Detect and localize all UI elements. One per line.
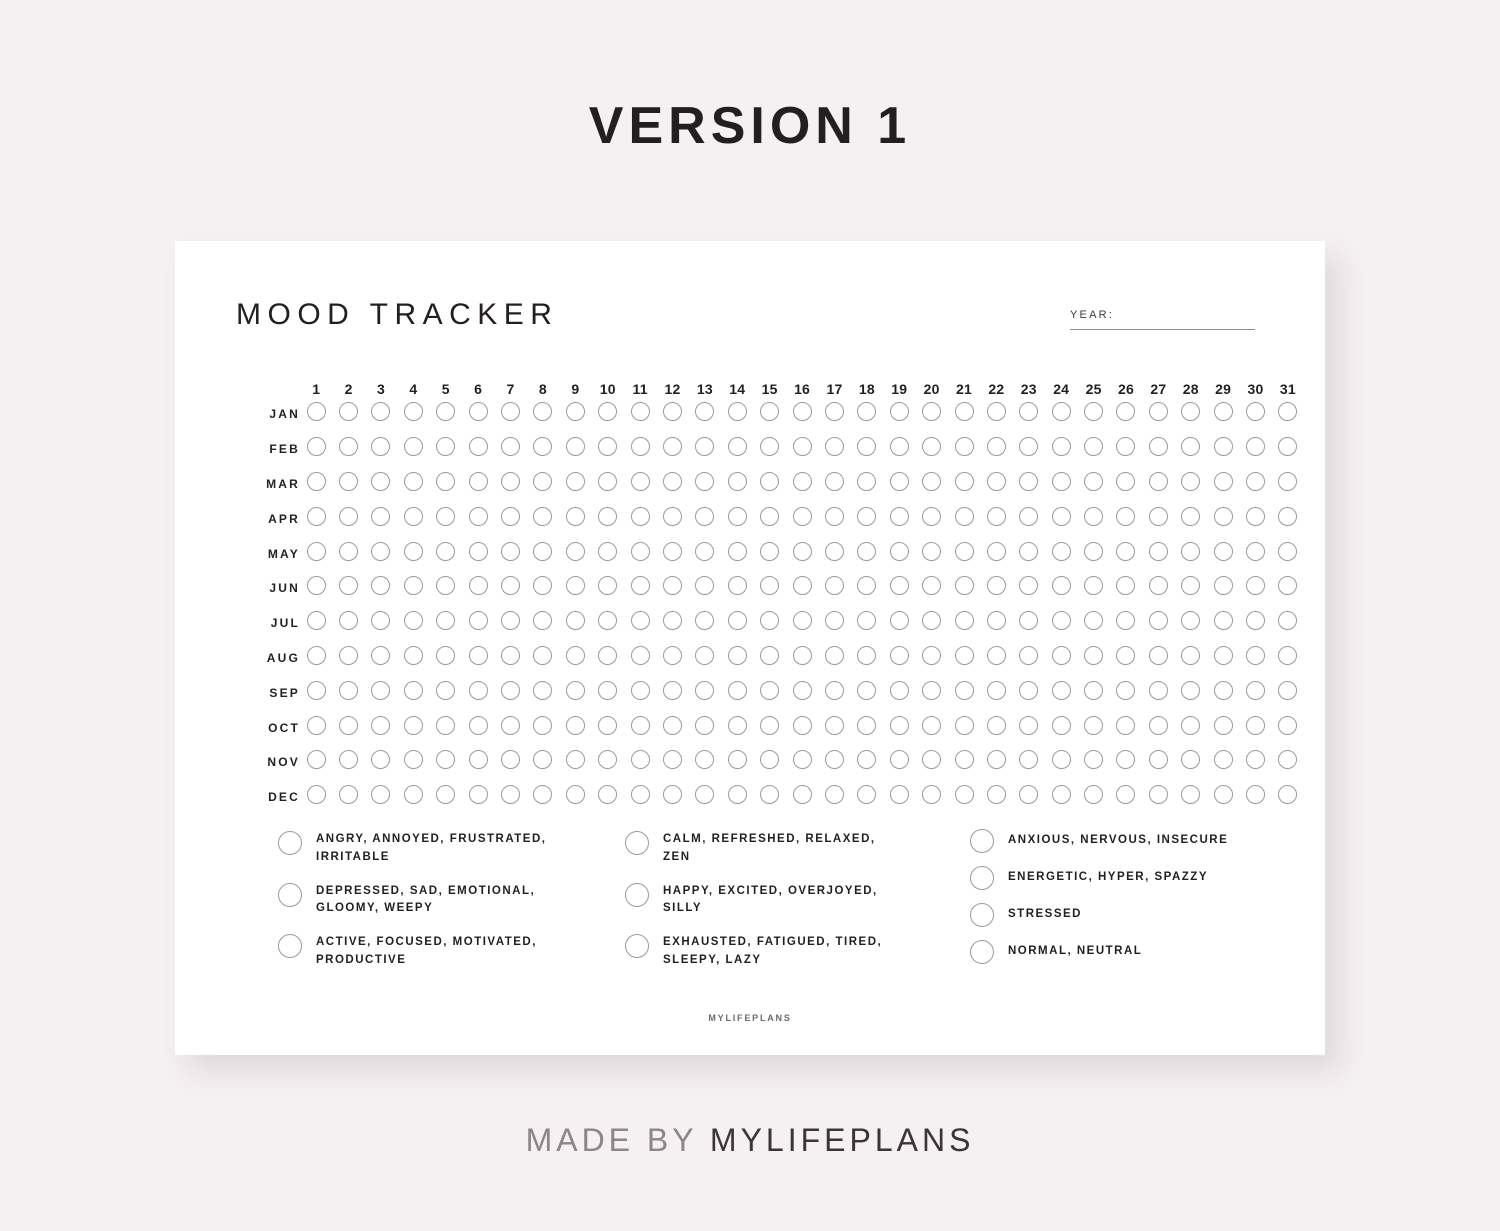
mood-bubble-icon[interactable] (1149, 576, 1168, 595)
mood-cell[interactable] (559, 501, 591, 536)
mood-bubble-icon[interactable] (760, 716, 779, 735)
mood-bubble-icon[interactable] (955, 402, 974, 421)
mood-bubble-icon[interactable] (469, 646, 488, 665)
mood-cell[interactable] (365, 536, 397, 571)
mood-cell[interactable] (1045, 606, 1077, 641)
mood-bubble-icon[interactable] (1149, 716, 1168, 735)
mood-cell[interactable] (818, 536, 850, 571)
mood-bubble-icon[interactable] (760, 542, 779, 561)
legend-bubble-icon[interactable] (278, 934, 302, 958)
mood-cell[interactable] (1272, 501, 1304, 536)
mood-bubble-icon[interactable] (1214, 576, 1233, 595)
mood-bubble-icon[interactable] (987, 681, 1006, 700)
mood-bubble-icon[interactable] (404, 437, 423, 456)
mood-bubble-icon[interactable] (890, 750, 909, 769)
mood-cell[interactable] (624, 432, 656, 467)
mood-bubble-icon[interactable] (371, 681, 390, 700)
mood-cell[interactable] (462, 536, 494, 571)
legend-bubble-icon[interactable] (278, 831, 302, 855)
mood-cell[interactable] (786, 397, 818, 432)
mood-cell[interactable] (1077, 432, 1109, 467)
mood-cell[interactable] (1272, 641, 1304, 676)
mood-cell[interactable] (365, 641, 397, 676)
mood-cell[interactable] (397, 710, 429, 745)
mood-cell[interactable] (332, 745, 364, 780)
mood-cell[interactable] (1077, 675, 1109, 710)
mood-bubble-icon[interactable] (890, 507, 909, 526)
mood-cell[interactable] (1013, 780, 1045, 815)
mood-cell[interactable] (1013, 710, 1045, 745)
mood-cell[interactable] (851, 780, 883, 815)
mood-cell[interactable] (494, 571, 526, 606)
mood-cell[interactable] (689, 432, 721, 467)
mood-bubble-icon[interactable] (1181, 750, 1200, 769)
mood-cell[interactable] (980, 467, 1012, 502)
mood-bubble-icon[interactable] (631, 542, 650, 561)
mood-bubble-icon[interactable] (1246, 472, 1265, 491)
mood-bubble-icon[interactable] (469, 507, 488, 526)
mood-cell[interactable] (397, 780, 429, 815)
mood-bubble-icon[interactable] (1052, 681, 1071, 700)
mood-bubble-icon[interactable] (987, 646, 1006, 665)
mood-bubble-icon[interactable] (1116, 472, 1135, 491)
mood-cell[interactable] (1077, 745, 1109, 780)
mood-cell[interactable] (332, 606, 364, 641)
mood-bubble-icon[interactable] (663, 402, 682, 421)
mood-bubble-icon[interactable] (404, 507, 423, 526)
mood-cell[interactable] (1077, 397, 1109, 432)
mood-cell[interactable] (1142, 571, 1174, 606)
mood-bubble-icon[interactable] (825, 785, 844, 804)
mood-bubble-icon[interactable] (793, 646, 812, 665)
legend-item[interactable]: ANGRY, ANNOYED, FRUSTRATED, IRRITABLE (278, 829, 598, 867)
mood-cell[interactable] (1239, 501, 1271, 536)
mood-bubble-icon[interactable] (339, 611, 358, 630)
mood-cell[interactable] (1142, 675, 1174, 710)
mood-bubble-icon[interactable] (371, 785, 390, 804)
mood-cell[interactable] (1045, 710, 1077, 745)
mood-cell[interactable] (1207, 641, 1239, 676)
mood-cell[interactable] (753, 432, 785, 467)
mood-bubble-icon[interactable] (1019, 507, 1038, 526)
mood-cell[interactable] (721, 780, 753, 815)
mood-cell[interactable] (851, 501, 883, 536)
mood-cell[interactable] (818, 432, 850, 467)
mood-cell[interactable] (980, 501, 1012, 536)
mood-bubble-icon[interactable] (1149, 750, 1168, 769)
mood-bubble-icon[interactable] (987, 716, 1006, 735)
mood-bubble-icon[interactable] (1278, 437, 1297, 456)
mood-cell[interactable] (1110, 397, 1142, 432)
mood-cell[interactable] (300, 571, 332, 606)
mood-cell[interactable] (462, 501, 494, 536)
mood-bubble-icon[interactable] (857, 472, 876, 491)
mood-cell[interactable] (1045, 571, 1077, 606)
mood-cell[interactable] (1045, 432, 1077, 467)
mood-bubble-icon[interactable] (469, 437, 488, 456)
mood-bubble-icon[interactable] (695, 472, 714, 491)
mood-bubble-icon[interactable] (501, 611, 520, 630)
mood-bubble-icon[interactable] (890, 542, 909, 561)
mood-cell[interactable] (1142, 467, 1174, 502)
mood-cell[interactable] (462, 780, 494, 815)
mood-bubble-icon[interactable] (922, 716, 941, 735)
mood-cell[interactable] (494, 710, 526, 745)
mood-cell[interactable] (721, 710, 753, 745)
mood-cell[interactable] (818, 467, 850, 502)
mood-bubble-icon[interactable] (695, 785, 714, 804)
mood-cell[interactable] (1207, 606, 1239, 641)
mood-cell[interactable] (1207, 571, 1239, 606)
mood-cell[interactable] (689, 675, 721, 710)
mood-bubble-icon[interactable] (987, 576, 1006, 595)
mood-bubble-icon[interactable] (695, 646, 714, 665)
mood-bubble-icon[interactable] (533, 681, 552, 700)
mood-bubble-icon[interactable] (922, 646, 941, 665)
mood-bubble-icon[interactable] (1019, 785, 1038, 804)
mood-cell[interactable] (753, 710, 785, 745)
mood-cell[interactable] (851, 641, 883, 676)
mood-bubble-icon[interactable] (728, 507, 747, 526)
mood-cell[interactable] (883, 467, 915, 502)
mood-cell[interactable] (1045, 501, 1077, 536)
mood-cell[interactable] (656, 675, 688, 710)
mood-bubble-icon[interactable] (307, 542, 326, 561)
mood-cell[interactable] (1142, 780, 1174, 815)
legend-item[interactable]: CALM, REFRESHED, RELAXED, ZEN (625, 829, 945, 867)
mood-bubble-icon[interactable] (436, 542, 455, 561)
mood-bubble-icon[interactable] (728, 472, 747, 491)
mood-bubble-icon[interactable] (857, 507, 876, 526)
legend-item[interactable]: HAPPY, EXCITED, OVERJOYED, SILLY (625, 881, 945, 919)
mood-cell[interactable] (980, 536, 1012, 571)
mood-cell[interactable] (721, 536, 753, 571)
mood-cell[interactable] (689, 501, 721, 536)
mood-cell[interactable] (1077, 606, 1109, 641)
mood-cell[interactable] (300, 397, 332, 432)
mood-cell[interactable] (851, 675, 883, 710)
mood-bubble-icon[interactable] (371, 472, 390, 491)
mood-bubble-icon[interactable] (371, 576, 390, 595)
mood-cell[interactable] (915, 710, 947, 745)
mood-cell[interactable] (883, 606, 915, 641)
mood-cell[interactable] (592, 675, 624, 710)
mood-bubble-icon[interactable] (1084, 646, 1103, 665)
legend-bubble-icon[interactable] (970, 903, 994, 927)
mood-cell[interactable] (527, 536, 559, 571)
mood-bubble-icon[interactable] (566, 646, 585, 665)
mood-cell[interactable] (397, 536, 429, 571)
mood-cell[interactable] (721, 501, 753, 536)
mood-bubble-icon[interactable] (307, 611, 326, 630)
mood-bubble-icon[interactable] (793, 750, 812, 769)
mood-cell[interactable] (494, 467, 526, 502)
mood-cell[interactable] (527, 397, 559, 432)
mood-bubble-icon[interactable] (1052, 646, 1071, 665)
mood-cell[interactable] (527, 780, 559, 815)
mood-cell[interactable] (786, 467, 818, 502)
mood-cell[interactable] (624, 710, 656, 745)
mood-bubble-icon[interactable] (339, 681, 358, 700)
mood-bubble-icon[interactable] (1278, 402, 1297, 421)
mood-bubble-icon[interactable] (1019, 611, 1038, 630)
mood-cell[interactable] (1045, 745, 1077, 780)
mood-cell[interactable] (559, 606, 591, 641)
mood-cell[interactable] (527, 641, 559, 676)
mood-cell[interactable] (397, 641, 429, 676)
mood-cell[interactable] (656, 571, 688, 606)
mood-bubble-icon[interactable] (566, 750, 585, 769)
mood-bubble-icon[interactable] (987, 437, 1006, 456)
mood-cell[interactable] (656, 501, 688, 536)
legend-bubble-icon[interactable] (625, 831, 649, 855)
mood-bubble-icon[interactable] (1084, 681, 1103, 700)
mood-bubble-icon[interactable] (631, 716, 650, 735)
mood-cell[interactable] (397, 501, 429, 536)
mood-cell[interactable] (494, 536, 526, 571)
mood-bubble-icon[interactable] (1278, 507, 1297, 526)
mood-bubble-icon[interactable] (987, 402, 1006, 421)
mood-cell[interactable] (1175, 745, 1207, 780)
mood-bubble-icon[interactable] (1246, 507, 1265, 526)
mood-bubble-icon[interactable] (339, 576, 358, 595)
mood-bubble-icon[interactable] (760, 611, 779, 630)
mood-bubble-icon[interactable] (598, 716, 617, 735)
mood-cell[interactable] (527, 571, 559, 606)
mood-bubble-icon[interactable] (987, 507, 1006, 526)
mood-cell[interactable] (1272, 432, 1304, 467)
mood-bubble-icon[interactable] (404, 750, 423, 769)
mood-bubble-icon[interactable] (1214, 542, 1233, 561)
mood-cell[interactable] (1142, 745, 1174, 780)
mood-cell[interactable] (332, 397, 364, 432)
legend-item[interactable]: ENERGETIC, HYPER, SPAZZY (970, 866, 1300, 890)
mood-bubble-icon[interactable] (404, 611, 423, 630)
mood-cell[interactable] (656, 641, 688, 676)
mood-cell[interactable] (1077, 710, 1109, 745)
mood-bubble-icon[interactable] (1246, 402, 1265, 421)
mood-bubble-icon[interactable] (631, 437, 650, 456)
mood-cell[interactable] (1207, 467, 1239, 502)
mood-bubble-icon[interactable] (1116, 437, 1135, 456)
mood-cell[interactable] (1142, 641, 1174, 676)
mood-bubble-icon[interactable] (436, 646, 455, 665)
mood-cell[interactable] (980, 675, 1012, 710)
mood-cell[interactable] (1110, 780, 1142, 815)
mood-bubble-icon[interactable] (1181, 646, 1200, 665)
mood-cell[interactable] (592, 780, 624, 815)
mood-bubble-icon[interactable] (469, 785, 488, 804)
mood-cell[interactable] (624, 745, 656, 780)
mood-cell[interactable] (1239, 675, 1271, 710)
mood-cell[interactable] (1272, 780, 1304, 815)
mood-cell[interactable] (721, 571, 753, 606)
mood-bubble-icon[interactable] (1019, 646, 1038, 665)
mood-bubble-icon[interactable] (1019, 437, 1038, 456)
mood-cell[interactable] (851, 467, 883, 502)
mood-cell[interactable] (300, 501, 332, 536)
legend-item[interactable]: STRESSED (970, 903, 1300, 927)
mood-bubble-icon[interactable] (663, 750, 682, 769)
mood-bubble-icon[interactable] (728, 716, 747, 735)
mood-cell[interactable] (948, 467, 980, 502)
mood-cell[interactable] (721, 432, 753, 467)
mood-cell[interactable] (332, 536, 364, 571)
mood-cell[interactable] (1175, 397, 1207, 432)
mood-bubble-icon[interactable] (1246, 576, 1265, 595)
mood-cell[interactable] (689, 780, 721, 815)
mood-cell[interactable] (1013, 641, 1045, 676)
mood-bubble-icon[interactable] (533, 542, 552, 561)
mood-bubble-icon[interactable] (1214, 472, 1233, 491)
mood-cell[interactable] (300, 745, 332, 780)
mood-bubble-icon[interactable] (1116, 750, 1135, 769)
mood-cell[interactable] (559, 675, 591, 710)
mood-bubble-icon[interactable] (1052, 576, 1071, 595)
mood-bubble-icon[interactable] (760, 402, 779, 421)
mood-cell[interactable] (430, 536, 462, 571)
mood-cell[interactable] (753, 745, 785, 780)
mood-cell[interactable] (527, 675, 559, 710)
mood-cell[interactable] (689, 397, 721, 432)
mood-cell[interactable] (948, 675, 980, 710)
mood-bubble-icon[interactable] (1116, 576, 1135, 595)
mood-bubble-icon[interactable] (436, 750, 455, 769)
mood-cell[interactable] (851, 536, 883, 571)
mood-cell[interactable] (1272, 606, 1304, 641)
mood-cell[interactable] (430, 467, 462, 502)
mood-bubble-icon[interactable] (1181, 472, 1200, 491)
mood-bubble-icon[interactable] (890, 402, 909, 421)
mood-cell[interactable] (656, 710, 688, 745)
mood-cell[interactable] (753, 397, 785, 432)
mood-bubble-icon[interactable] (1052, 611, 1071, 630)
mood-bubble-icon[interactable] (793, 472, 812, 491)
mood-bubble-icon[interactable] (1278, 716, 1297, 735)
mood-cell[interactable] (851, 571, 883, 606)
mood-bubble-icon[interactable] (955, 576, 974, 595)
mood-cell[interactable] (624, 675, 656, 710)
mood-cell[interactable] (462, 432, 494, 467)
mood-bubble-icon[interactable] (339, 785, 358, 804)
mood-bubble-icon[interactable] (695, 402, 714, 421)
mood-bubble-icon[interactable] (371, 437, 390, 456)
mood-cell[interactable] (365, 501, 397, 536)
mood-cell[interactable] (980, 780, 1012, 815)
mood-bubble-icon[interactable] (890, 681, 909, 700)
mood-bubble-icon[interactable] (987, 472, 1006, 491)
mood-cell[interactable] (624, 397, 656, 432)
mood-bubble-icon[interactable] (857, 402, 876, 421)
mood-bubble-icon[interactable] (598, 542, 617, 561)
mood-cell[interactable] (1013, 745, 1045, 780)
mood-cell[interactable] (365, 467, 397, 502)
mood-bubble-icon[interactable] (1214, 507, 1233, 526)
mood-cell[interactable] (462, 467, 494, 502)
mood-cell[interactable] (980, 571, 1012, 606)
mood-bubble-icon[interactable] (1246, 785, 1265, 804)
mood-bubble-icon[interactable] (404, 402, 423, 421)
mood-bubble-icon[interactable] (1278, 750, 1297, 769)
mood-cell[interactable] (1239, 467, 1271, 502)
mood-bubble-icon[interactable] (1181, 716, 1200, 735)
mood-cell[interactable] (1077, 501, 1109, 536)
mood-cell[interactable] (494, 397, 526, 432)
mood-cell[interactable] (332, 641, 364, 676)
mood-bubble-icon[interactable] (1278, 785, 1297, 804)
mood-cell[interactable] (1175, 501, 1207, 536)
mood-bubble-icon[interactable] (501, 437, 520, 456)
mood-bubble-icon[interactable] (1116, 542, 1135, 561)
mood-bubble-icon[interactable] (890, 576, 909, 595)
legend-item[interactable]: ANXIOUS, NERVOUS, INSECURE (970, 829, 1300, 853)
mood-cell[interactable] (1239, 397, 1271, 432)
mood-cell[interactable] (980, 745, 1012, 780)
mood-bubble-icon[interactable] (598, 507, 617, 526)
mood-bubble-icon[interactable] (760, 646, 779, 665)
mood-bubble-icon[interactable] (533, 402, 552, 421)
mood-bubble-icon[interactable] (857, 716, 876, 735)
mood-bubble-icon[interactable] (501, 507, 520, 526)
mood-cell[interactable] (656, 397, 688, 432)
mood-bubble-icon[interactable] (890, 611, 909, 630)
mood-cell[interactable] (1272, 397, 1304, 432)
mood-bubble-icon[interactable] (404, 785, 423, 804)
mood-cell[interactable] (851, 710, 883, 745)
mood-bubble-icon[interactable] (728, 576, 747, 595)
mood-bubble-icon[interactable] (1149, 437, 1168, 456)
mood-bubble-icon[interactable] (857, 611, 876, 630)
mood-cell[interactable] (1110, 641, 1142, 676)
mood-bubble-icon[interactable] (631, 611, 650, 630)
mood-cell[interactable] (818, 675, 850, 710)
mood-cell[interactable] (527, 710, 559, 745)
mood-bubble-icon[interactable] (825, 716, 844, 735)
mood-cell[interactable] (786, 606, 818, 641)
mood-bubble-icon[interactable] (1084, 507, 1103, 526)
mood-cell[interactable] (915, 571, 947, 606)
mood-bubble-icon[interactable] (695, 437, 714, 456)
mood-cell[interactable] (624, 571, 656, 606)
mood-bubble-icon[interactable] (955, 646, 974, 665)
mood-cell[interactable] (430, 571, 462, 606)
mood-bubble-icon[interactable] (533, 785, 552, 804)
mood-cell[interactable] (656, 432, 688, 467)
mood-bubble-icon[interactable] (371, 402, 390, 421)
mood-bubble-icon[interactable] (1246, 542, 1265, 561)
mood-cell[interactable] (786, 536, 818, 571)
mood-bubble-icon[interactable] (825, 472, 844, 491)
mood-bubble-icon[interactable] (760, 750, 779, 769)
mood-bubble-icon[interactable] (501, 716, 520, 735)
mood-bubble-icon[interactable] (436, 716, 455, 735)
mood-bubble-icon[interactable] (631, 646, 650, 665)
mood-cell[interactable] (948, 501, 980, 536)
mood-cell[interactable] (1110, 710, 1142, 745)
mood-bubble-icon[interactable] (1181, 437, 1200, 456)
mood-bubble-icon[interactable] (339, 716, 358, 735)
mood-cell[interactable] (1077, 571, 1109, 606)
mood-bubble-icon[interactable] (371, 542, 390, 561)
mood-cell[interactable] (1239, 780, 1271, 815)
legend-bubble-icon[interactable] (625, 934, 649, 958)
mood-bubble-icon[interactable] (533, 611, 552, 630)
mood-bubble-icon[interactable] (501, 681, 520, 700)
mood-bubble-icon[interactable] (1149, 472, 1168, 491)
mood-bubble-icon[interactable] (533, 472, 552, 491)
mood-cell[interactable] (948, 536, 980, 571)
mood-bubble-icon[interactable] (1149, 681, 1168, 700)
